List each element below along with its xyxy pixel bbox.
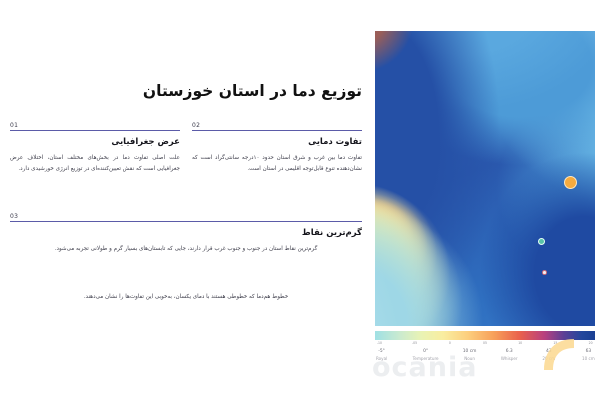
- colorbar-tick: 20: [589, 341, 593, 345]
- section-number: 03: [10, 213, 362, 221]
- colorbar-tick: -05: [412, 341, 417, 345]
- section-card-row: 02 تفاوت دمایی تفاوت دما بین غرب و شرق ا…: [10, 122, 362, 174]
- slide-page: توزیع دما در استان خوزستان 02 تفاوت دمای…: [0, 0, 600, 400]
- heatmap-field: [375, 31, 595, 326]
- chart-panel: -10 -05 0 05 10 15 20 -5° Royal 0° Tempe…: [370, 0, 600, 400]
- colorbar-tick: -10: [377, 341, 382, 345]
- colorbar-tick: 0: [449, 341, 451, 345]
- section-body: علت اصلی تفاوت دما در بخش‌های مختلف استا…: [10, 153, 180, 174]
- colorbar-label-value: -5°: [376, 349, 387, 356]
- colorbar-tick: 05: [483, 341, 487, 345]
- section-card-01: 01 عرض جغرافیایی علت اصلی تفاوت دما در ب…: [10, 122, 180, 174]
- colorbar-label-value: 43: [542, 349, 555, 356]
- colorbar-label-value: 10 cm: [463, 349, 477, 356]
- section-card-03: 03 گرم‌ترین نقاط گرم‌ترین نقاط استان در …: [10, 213, 362, 255]
- section-divider: [10, 221, 362, 222]
- colorbar-label: 43 20 cm: [542, 349, 555, 362]
- colorbar-ticks: -10 -05 0 05 10 15 20: [375, 340, 595, 348]
- section-number: 01: [10, 122, 180, 130]
- colorbar-label-unit: 20 cm: [542, 356, 555, 362]
- section-heading: تفاوت دمایی: [192, 137, 362, 148]
- colorbar-label: 0° Temperature: [413, 349, 439, 362]
- colorbar-label: -5° Royal: [376, 349, 387, 362]
- cool-site-marker[interactable]: [542, 270, 547, 275]
- colorbar-label-unit: Royal: [376, 356, 387, 362]
- colorbar-label: 6.3 Whisper: [501, 349, 518, 362]
- section-body: گرم‌ترین نقاط استان در جنوب و جنوب غرب ق…: [10, 244, 362, 254]
- colorbar-label-unit: Whisper: [501, 356, 518, 362]
- colorbar-tick: 10: [518, 341, 522, 345]
- colorbar-tick: 15: [553, 341, 557, 345]
- colorbar-label-unit: 10 cm: [582, 356, 595, 362]
- colorbar-labels: -5° Royal 0° Temperature 10 cm Noun 6.3 …: [375, 349, 595, 369]
- colorbar-label-value: 6.3: [501, 349, 518, 356]
- section-heading: گرم‌ترین نقاط: [10, 228, 362, 239]
- colorbar-label-value: 0°: [413, 349, 439, 356]
- colorbar-label: 10 cm Noun: [463, 349, 477, 362]
- section-divider: [10, 130, 180, 131]
- colorbar-label-value: 63: [582, 349, 595, 356]
- colorbar-gradient: [375, 331, 595, 340]
- content-column: توزیع دما در استان خوزستان 02 تفاوت دمای…: [0, 0, 370, 400]
- colorbar-legend: -10 -05 0 05 10 15 20 -5° Royal 0° Tempe…: [375, 331, 595, 369]
- mid-site-marker[interactable]: [538, 238, 545, 245]
- section-body: تفاوت دما بین غرب و شرق استان حدود ۱۰درج…: [192, 153, 362, 174]
- section-divider: [192, 130, 362, 131]
- closing-note: خطوط هم‌دما که خطوطی هستند با دمای یکسان…: [10, 292, 362, 302]
- hot-site-marker[interactable]: [564, 176, 577, 189]
- colorbar-label: 63 10 cm: [582, 349, 595, 362]
- contour-layer-warm-tail: [375, 31, 595, 326]
- temperature-heatmap: [375, 31, 595, 326]
- colorbar-label-unit: Noun: [463, 356, 477, 362]
- page-title: توزیع دما در استان خوزستان: [12, 82, 362, 101]
- section-heading: عرض جغرافیایی: [10, 137, 180, 148]
- section-card-02: 02 تفاوت دمایی تفاوت دما بین غرب و شرق ا…: [192, 122, 362, 174]
- colorbar-label-unit: Temperature: [413, 356, 439, 362]
- section-number: 02: [192, 122, 362, 130]
